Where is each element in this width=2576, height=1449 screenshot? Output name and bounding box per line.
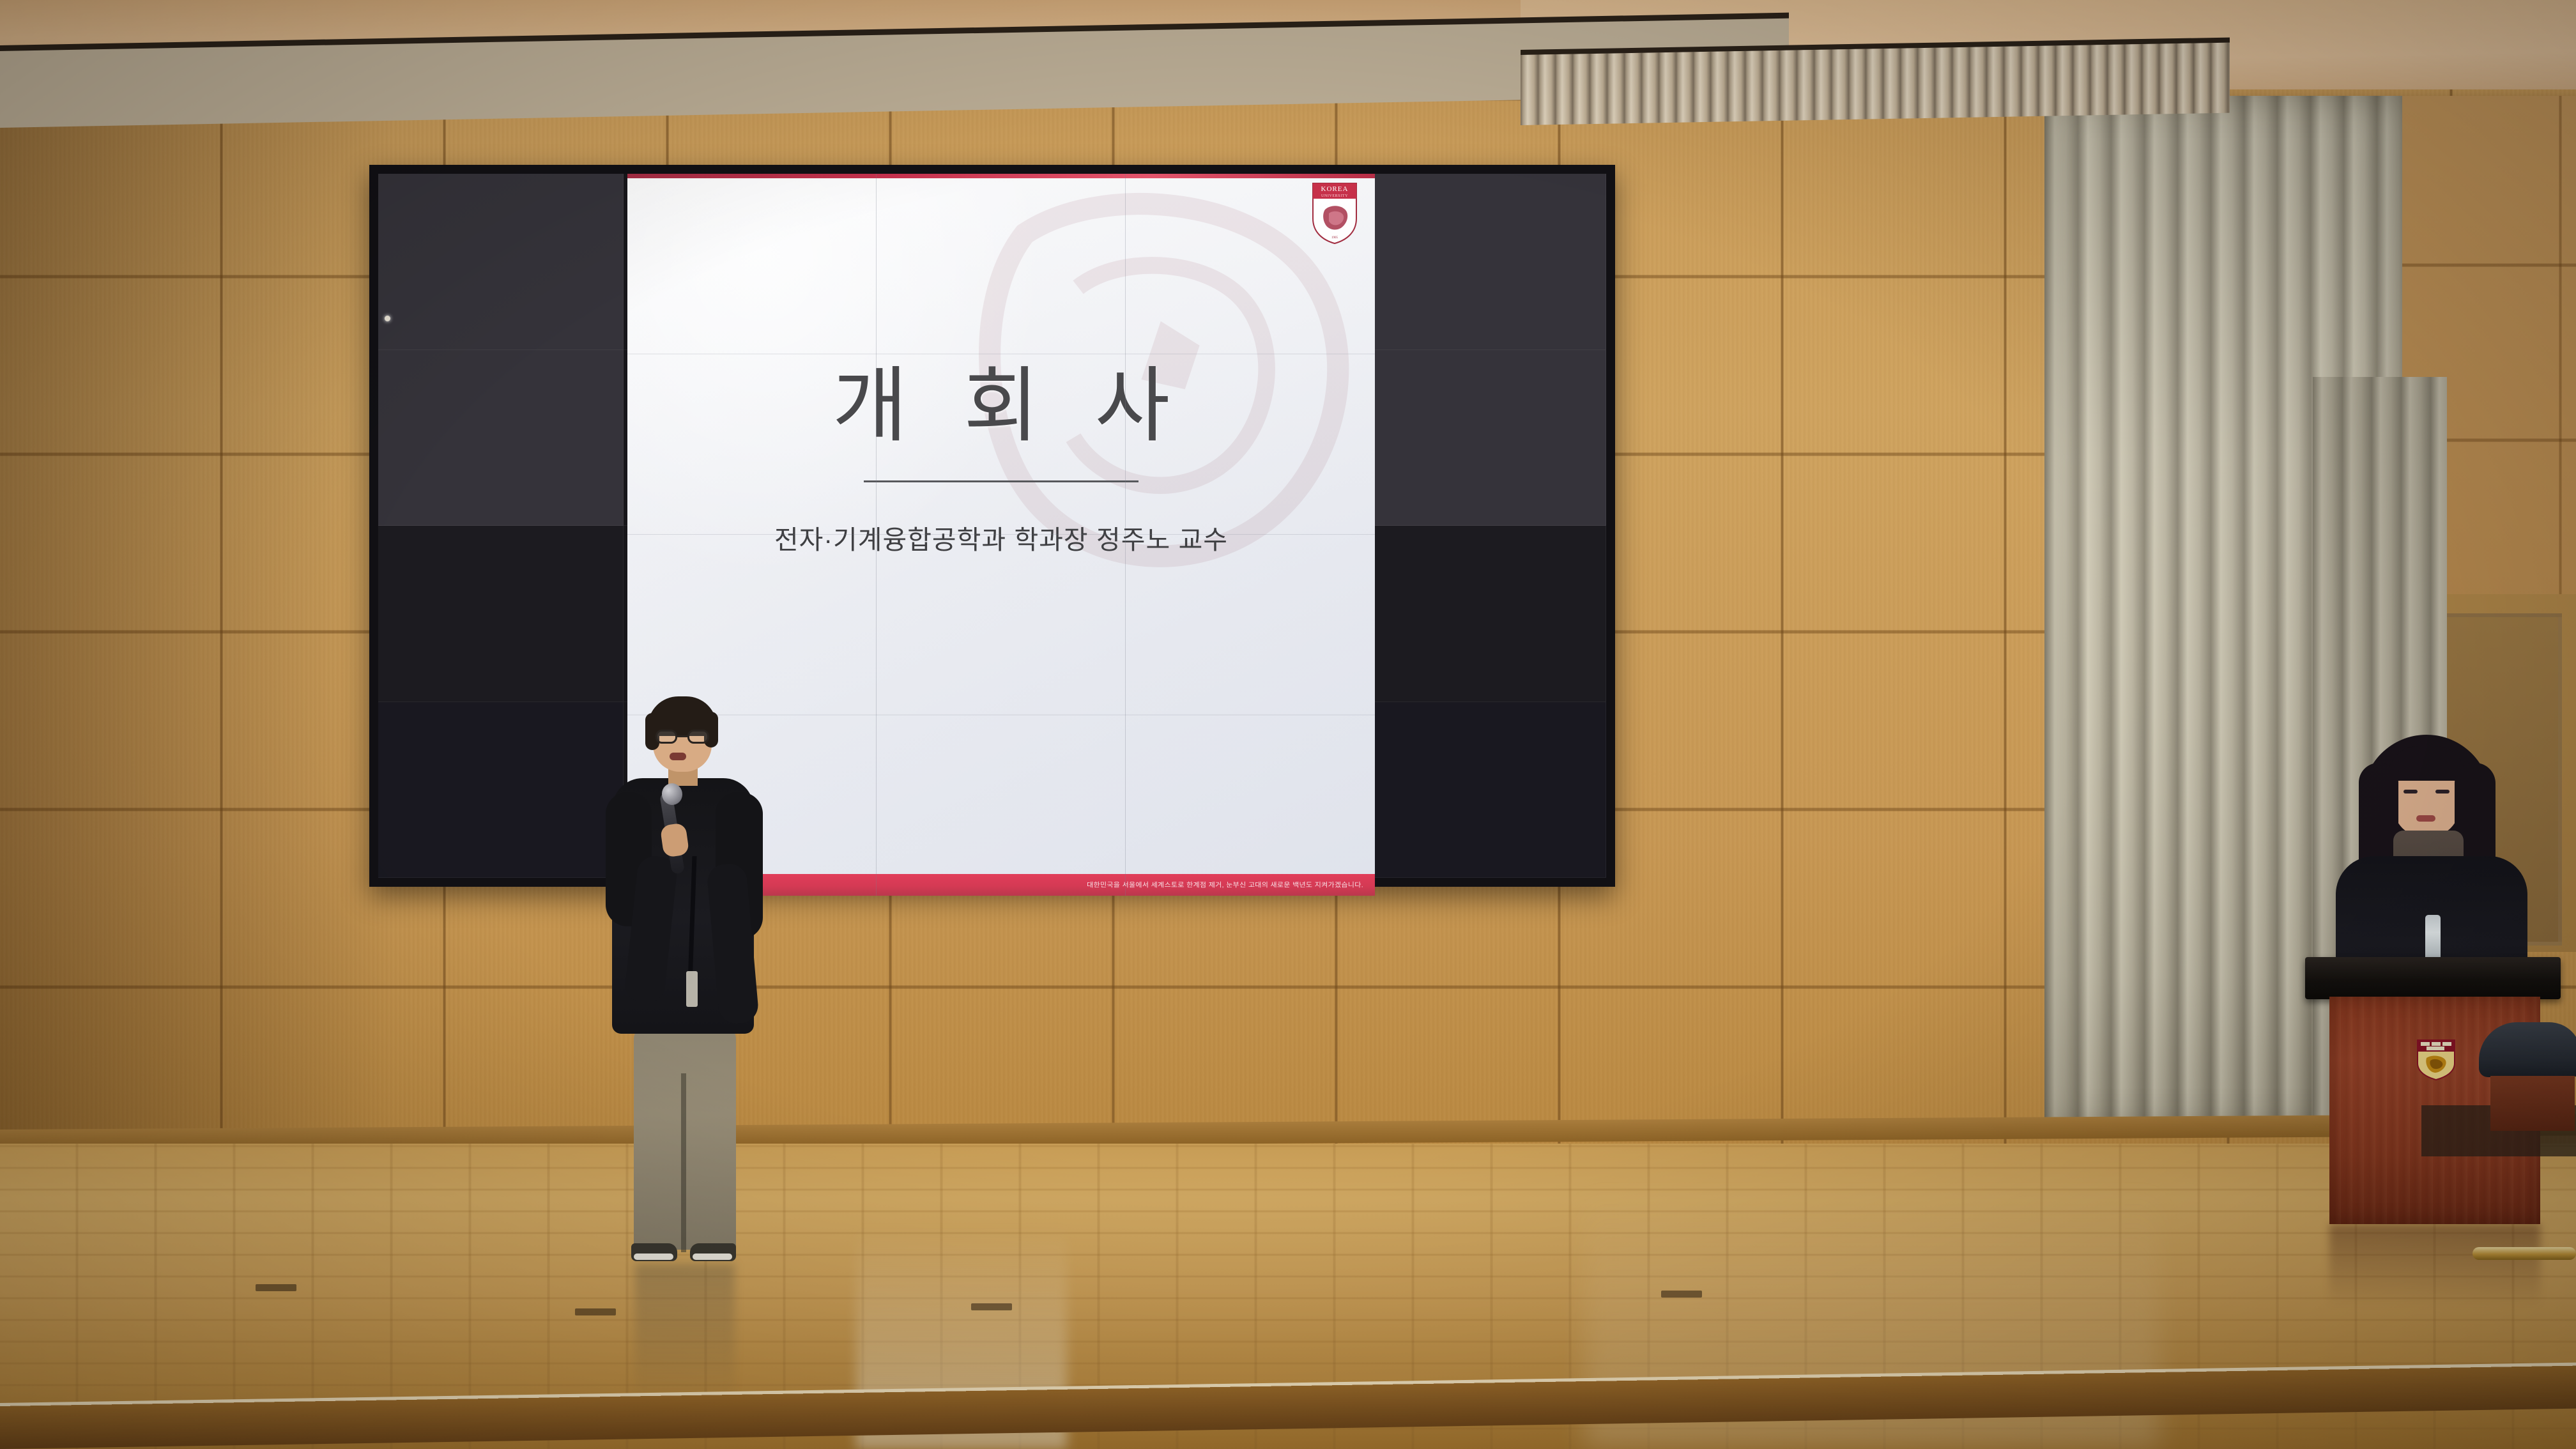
status-led-icon [385,316,390,321]
glasses-icon [655,730,709,744]
slide-footer-slogan: 대한민국을 서울에서 세계스토로 한계점 제거, 눈부신 고대의 새로운 백년도… [1087,880,1363,890]
mc-eye-right [2435,790,2449,793]
floor-outlet-plate [1661,1291,1702,1298]
svg-text:UNIVERSITY: UNIVERSITY [1321,194,1348,198]
speaker-shoe-left [631,1243,677,1261]
slide-title: 개 회 사 [627,365,1375,447]
video-wall-tile [378,526,624,702]
led-video-wall: KOREA UNIVERSITY 1905 개 회 사 전자·기계융합공학과 학… [369,165,1615,887]
speaker-name-badge [686,971,698,1007]
glasses-bridge [677,735,687,737]
slide-divider-rule [864,480,1138,482]
korea-university-crest-icon: KOREA UNIVERSITY 1905 [1311,181,1358,245]
video-wall-tile [1361,174,1606,350]
mc-lips [2416,815,2435,822]
speaker-leg-seam [681,1073,686,1252]
chair-seat [2479,1022,2576,1077]
speaker-floor-reflection [635,1264,735,1411]
stage-scene: KOREA UNIVERSITY 1905 개 회 사 전자·기계융합공학과 학… [0,0,2576,1449]
wall-shadow-left [0,89,396,1163]
floor-outlet-plate [575,1308,616,1315]
video-wall-tile [1361,350,1606,526]
water-bottle-icon [2425,915,2441,960]
slide-subtitle: 전자·기계융합공학과 학과장 정주노 교수 [627,518,1375,556]
mc-eye-left [2403,790,2418,793]
slide-text-block: 개 회 사 전자·기계융합공학과 학과장 정주노 교수 [627,365,1375,556]
pleated-valance-right [1521,43,2230,125]
video-wall-tile [1361,526,1606,702]
svg-text:KOREA: KOREA [1321,185,1349,193]
podium-shadow [2329,1224,2540,1307]
podium-crest-icon [2416,1039,2456,1081]
brass-floor-rail [2472,1247,2576,1260]
glasses-lens-right [687,730,709,744]
video-wall-tile [1361,702,1606,878]
chair-base [2490,1076,2575,1131]
speaker-presenter [594,696,773,1284]
podium-desktop [2305,957,2561,999]
video-wall-tile [378,702,624,878]
video-wall-tile [378,174,624,350]
speaker-shoe-right [690,1243,736,1261]
video-wall-tile [378,350,624,526]
glasses-lens-left [655,730,677,744]
floor-outlet-plate [971,1303,1012,1310]
speaker-mouth [670,753,686,760]
mc-eyes [2403,790,2449,794]
floor-outlet-plate [256,1284,296,1291]
svg-text:1905: 1905 [1331,236,1338,240]
stage-chair [2479,1022,2576,1169]
